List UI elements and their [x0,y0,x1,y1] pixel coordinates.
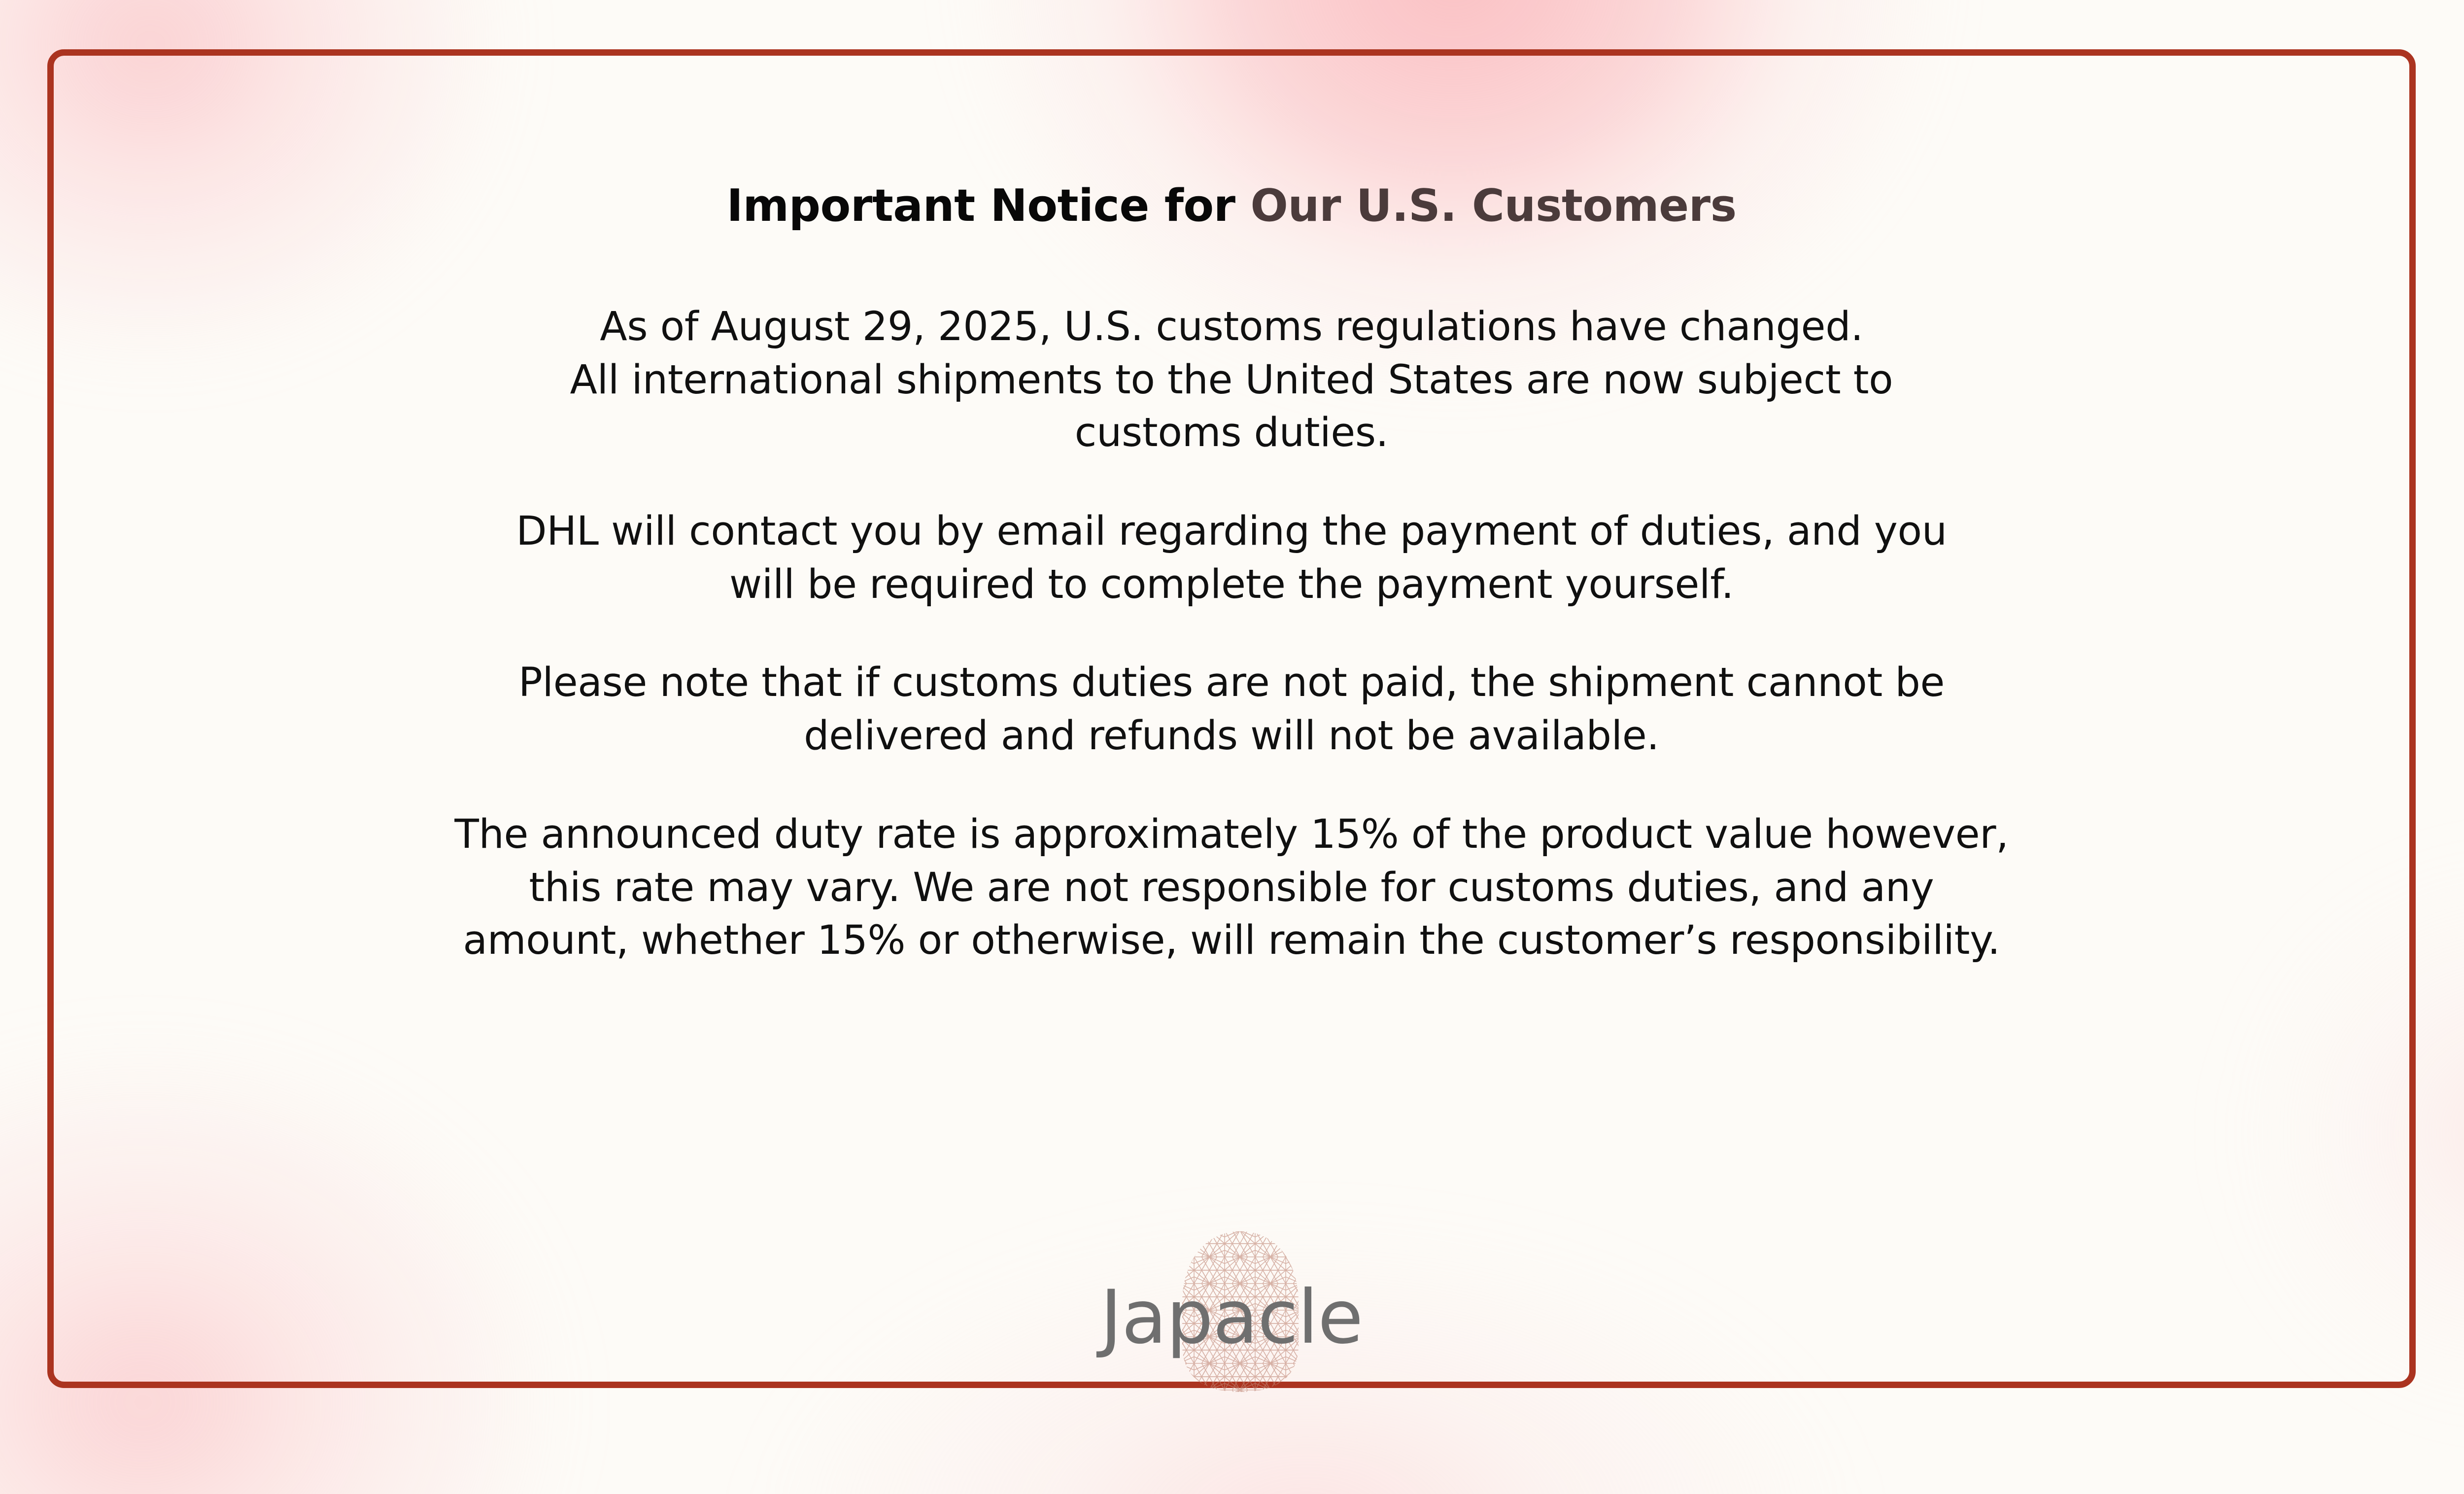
notice-paragraph-1: As of August 29, 2025, U.S. customs regu… [83,301,2380,460]
notice-paragraph-3: Please note that if customs duties are n… [83,657,2380,763]
page-title-primary: Important Notice for [726,180,1250,232]
brand-wordmark: Japacle [1100,1281,1363,1355]
page-title-secondary: Our U.S. Customers [1250,180,1736,232]
paragraph-spacer [83,611,2380,657]
notice-paragraph-2: DHL will contact you by email regarding … [83,505,2380,611]
brand-lockup: Japacle [54,1236,2409,1399]
paragraph-spacer [83,763,2380,808]
notice-card-content: Important Notice for Our U.S. Customers … [54,56,2409,1382]
notice-card: Important Notice for Our U.S. Customers … [47,49,2416,1388]
page-title: Important Notice for Our U.S. Customers [726,182,1736,230]
notice-page: Important Notice for Our U.S. Customers … [0,0,2464,1494]
paragraph-spacer [83,460,2380,505]
notice-paragraph-4: The announced duty rate is approximately… [83,808,2380,968]
notice-body: As of August 29, 2025, U.S. customs regu… [83,260,2380,968]
